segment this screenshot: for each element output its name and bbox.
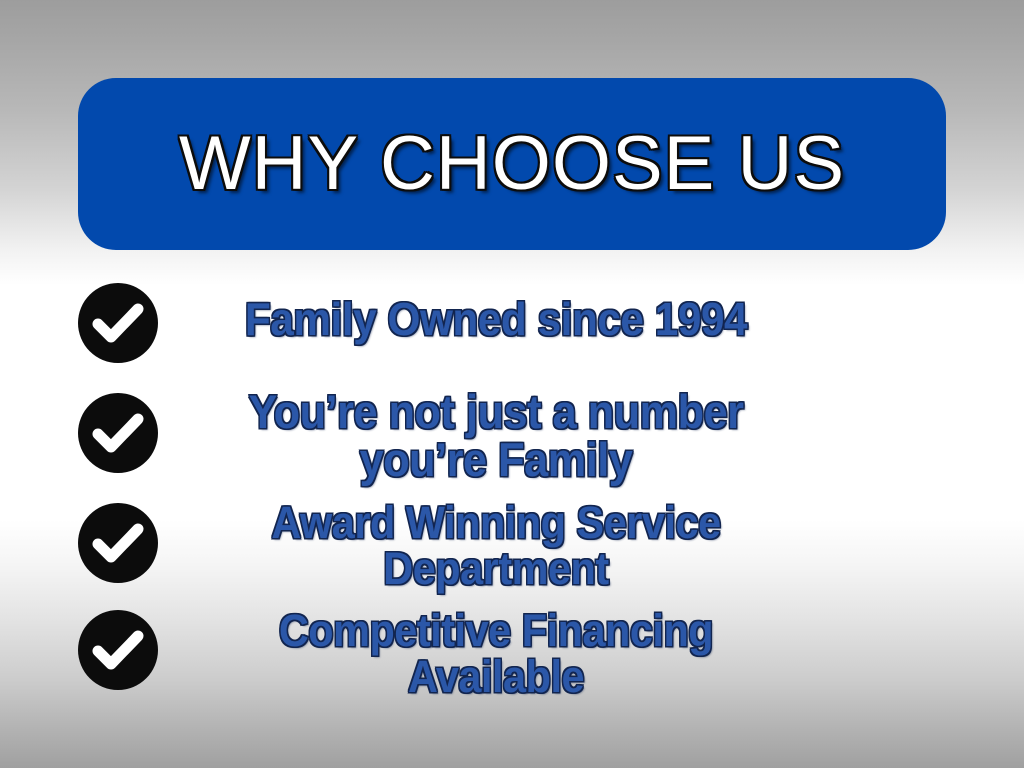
- list-item-label: Award Winning Service Department: [187, 500, 805, 592]
- list-item-label: Competitive Financing Available: [187, 608, 805, 700]
- slide-canvas: WHY CHOOSE US Family Owned since 1994 Yo…: [0, 0, 1024, 768]
- list-item-label: Family Owned since 1994: [187, 296, 805, 343]
- title-banner: WHY CHOOSE US: [78, 78, 946, 250]
- page-title: WHY CHOOSE US: [179, 126, 845, 202]
- check-circle-icon: [78, 610, 158, 690]
- list-item-label: You’re not just a number you’re Family: [187, 388, 805, 484]
- check-circle-icon: [78, 393, 158, 473]
- check-circle-icon: [78, 283, 158, 363]
- check-circle-icon: [78, 503, 158, 583]
